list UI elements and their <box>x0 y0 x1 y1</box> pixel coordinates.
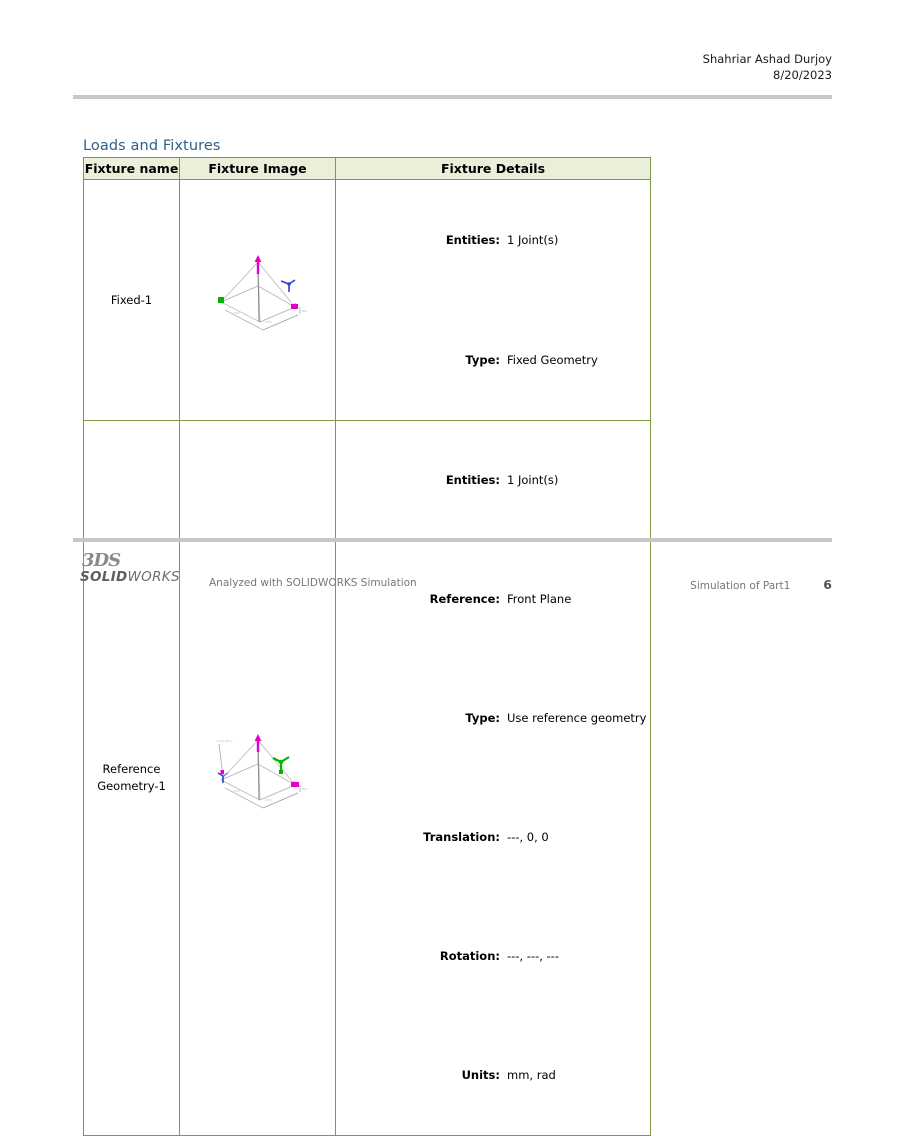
detail-row: Translation: ---, 0, 0 <box>336 778 650 897</box>
column-header-fixture-name: Fixture name <box>84 158 180 180</box>
dassault-3ds-logo-icon: 3DS <box>82 552 190 570</box>
header-date: 8/20/2023 <box>703 68 832 84</box>
header-divider <box>73 95 832 99</box>
detail-value: ---, 0, 0 <box>507 778 650 897</box>
solidworks-logo: 3DS SOLIDWORKS <box>80 552 190 585</box>
header-author: Shahriar Ashad Durjoy <box>703 52 832 68</box>
coordinate-triad-icon <box>218 770 228 783</box>
fixture-name-cell: Reference Geometry-1 <box>84 421 180 1136</box>
column-header-fixture-image: Fixture Image <box>180 158 336 180</box>
svg-text:1000: 1000 <box>265 798 272 802</box>
detail-label: Type: <box>336 659 507 778</box>
fixture-details-cell: Entities: 1 Joint(s) Type: Fixed Geometr… <box>336 180 651 421</box>
detail-value: mm, rad <box>507 1016 650 1135</box>
detail-row: Rotation: ---, ---, --- <box>336 897 650 1016</box>
fixture-image-fixed-1: 1000 1000 800 <box>203 250 313 350</box>
detail-value: 1 Joint(s) <box>507 180 650 300</box>
fixture-details-cell: Entities: 1 Joint(s) Reference: Front Pl… <box>336 421 651 1136</box>
detail-label: Type: <box>336 300 507 420</box>
fixture-image-cell: 1000 1000 800 <box>180 180 336 421</box>
fixture-symbol-magenta-bottom <box>291 304 298 309</box>
detail-label: Entities: <box>336 180 507 300</box>
loads-and-fixtures-table: Fixture name Fixture Image Fixture Detai… <box>83 157 651 1136</box>
svg-text:Front Plane: Front Plane <box>217 739 233 743</box>
svg-text:1000: 1000 <box>265 320 272 324</box>
fixture-detail-list: Entities: 1 Joint(s) Type: Fixed Geometr… <box>336 180 650 420</box>
detail-label: Entities: <box>336 421 507 540</box>
footer-page-number: 6 <box>823 577 832 592</box>
svg-text:800: 800 <box>302 787 307 791</box>
coordinate-triad-icon <box>281 280 295 292</box>
detail-row: Entities: 1 Joint(s) <box>336 180 650 300</box>
detail-value: Use reference geometry <box>507 659 650 778</box>
footer-doc-title: Simulation of Part1 <box>690 580 790 592</box>
solidworks-wordmark: SOLIDWORKS <box>80 571 190 585</box>
table-row: Fixed-1 <box>84 180 651 421</box>
detail-label: Reference: <box>336 540 507 659</box>
dimension-labels: Front Plane 1000 1000 800 <box>217 739 307 802</box>
detail-label: Translation: <box>336 778 507 897</box>
detail-row: Type: Use reference geometry <box>336 659 650 778</box>
footer-right: Simulation of Part1 6 <box>690 577 832 592</box>
detail-row: Units: mm, rad <box>336 1016 650 1135</box>
detail-value: Fixed Geometry <box>507 300 650 420</box>
detail-row: Reference: Front Plane <box>336 540 650 659</box>
fixture-detail-list: Entities: 1 Joint(s) Reference: Front Pl… <box>336 421 650 1135</box>
page-header: Shahriar Ashad Durjoy 8/20/2023 <box>703 52 832 83</box>
fixture-name-cell: Fixed-1 <box>84 180 180 421</box>
logo-solid-text: SOLID <box>80 569 128 585</box>
fixture-image-reference-geometry-1: Front Plane 1000 1000 800 <box>203 728 313 828</box>
detail-row: Type: Fixed Geometry <box>336 300 650 420</box>
svg-text:800: 800 <box>302 309 307 313</box>
detail-value: 1 Joint(s) <box>507 421 650 540</box>
detail-value: Front Plane <box>507 540 650 659</box>
logo-works-text: WORKS <box>128 569 180 585</box>
detail-value: ---, ---, --- <box>507 897 650 1016</box>
column-header-fixture-details: Fixture Details <box>336 158 651 180</box>
fixture-symbol-magenta-bottom <box>291 782 299 787</box>
detail-row: Entities: 1 Joint(s) <box>336 421 650 540</box>
svg-text:1000: 1000 <box>233 311 240 315</box>
fixture-symbol-green-node <box>218 297 224 303</box>
footer-center-text: Analyzed with SOLIDWORKS Simulation <box>209 577 417 589</box>
table-row: Reference Geometry-1 <box>84 421 651 1136</box>
page-title: Loads and Fixtures <box>83 138 221 154</box>
footer-divider <box>73 538 832 542</box>
detail-label: Rotation: <box>336 897 507 1016</box>
detail-label: Units: <box>336 1016 507 1135</box>
reference-geometry-symbol-icon <box>273 757 289 774</box>
fixture-image-cell: Front Plane 1000 1000 800 <box>180 421 336 1136</box>
dimension-labels: 1000 1000 800 <box>233 309 307 324</box>
svg-text:1000: 1000 <box>233 789 240 793</box>
table-header-row: Fixture name Fixture Image Fixture Detai… <box>84 158 651 180</box>
